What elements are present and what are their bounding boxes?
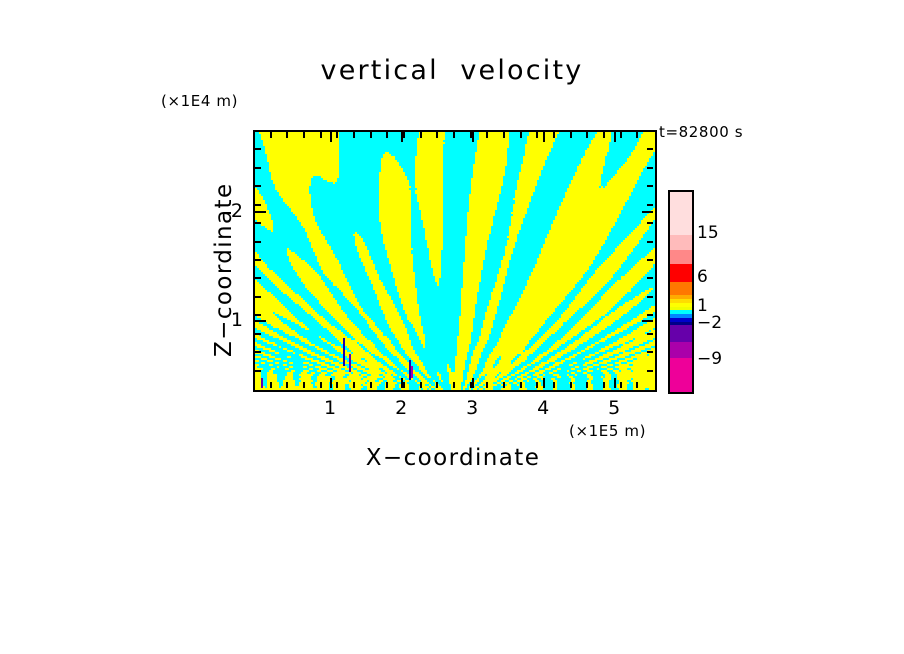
colorbar-band-1 — [670, 235, 692, 250]
y-axis-units-label: (×1E4 m) — [161, 94, 238, 109]
axis-tick-mark — [647, 222, 653, 224]
axis-tick-mark — [620, 382, 622, 388]
axis-tick-mark — [614, 378, 616, 388]
axis-tick-mark — [320, 382, 322, 388]
axis-tick-mark — [420, 382, 422, 388]
axis-tick-mark — [553, 382, 555, 388]
axis-tick-mark — [255, 351, 261, 353]
axis-tick-mark — [303, 132, 305, 138]
colorbar-band-3 — [670, 264, 692, 282]
axis-tick-mark — [570, 132, 572, 138]
axis-tick-mark — [636, 132, 638, 138]
axis-tick-mark — [255, 259, 261, 261]
colorbar-band-2 — [670, 250, 692, 264]
x-tick-label-1: 2 — [381, 397, 421, 419]
axis-tick-mark — [330, 378, 332, 388]
colorbar-band-4 — [670, 282, 692, 295]
axis-tick-mark — [336, 132, 338, 138]
axis-tick-mark — [255, 314, 261, 316]
axis-tick-mark — [647, 351, 653, 353]
axis-tick-mark — [472, 378, 474, 388]
axis-tick-mark — [636, 382, 638, 388]
axis-tick-mark — [401, 132, 403, 142]
axis-tick-mark — [386, 132, 388, 138]
axis-tick-mark — [543, 132, 545, 142]
axis-tick-mark — [620, 132, 622, 138]
x-tick-label-4: 5 — [594, 397, 634, 419]
axis-tick-mark — [255, 241, 261, 243]
plot-area — [253, 130, 657, 392]
colorbar — [668, 190, 694, 394]
y-tick-label-0: 1 — [209, 309, 243, 331]
axis-tick-mark — [255, 211, 266, 213]
axis-tick-mark — [603, 132, 605, 138]
colorbar-band-0 — [670, 192, 692, 235]
axis-tick-mark — [370, 382, 372, 388]
axis-tick-mark — [436, 382, 438, 388]
axis-tick-mark — [255, 222, 261, 224]
axis-tick-mark — [255, 277, 261, 279]
axis-tick-mark — [647, 241, 653, 243]
axis-tick-mark — [543, 378, 545, 388]
axis-tick-mark — [647, 148, 653, 150]
axis-tick-mark — [401, 378, 403, 388]
axis-tick-mark — [647, 259, 653, 261]
page-title: vertical velocity — [0, 57, 904, 84]
axis-tick-mark — [353, 382, 355, 388]
axis-tick-mark — [586, 132, 588, 138]
axis-tick-mark — [330, 132, 332, 142]
axis-tick-mark — [486, 132, 488, 138]
axis-tick-mark — [255, 167, 261, 169]
x-tick-label-2: 3 — [452, 397, 492, 419]
axis-tick-mark — [255, 204, 261, 206]
axis-tick-mark — [453, 382, 455, 388]
axis-tick-mark — [570, 382, 572, 388]
x-tick-label-0: 1 — [310, 397, 350, 419]
axis-tick-mark — [503, 382, 505, 388]
axis-tick-mark — [503, 132, 505, 138]
axis-tick-mark — [586, 382, 588, 388]
x-tick-label-3: 4 — [523, 397, 563, 419]
axis-tick-mark — [255, 296, 261, 298]
axis-tick-mark — [486, 382, 488, 388]
axis-tick-mark — [536, 132, 538, 138]
axis-tick-mark — [642, 211, 653, 213]
axis-tick-mark — [403, 132, 405, 138]
x-axis-units-label: (×1E5 m) — [569, 424, 646, 439]
axis-tick-mark — [553, 132, 555, 138]
colorbar-band-15 — [670, 358, 692, 392]
axis-tick-mark — [270, 382, 272, 388]
axis-tick-mark — [614, 132, 616, 142]
y-tick-label-1: 2 — [209, 200, 243, 222]
time-stamp-label: t=82800 s — [659, 125, 743, 140]
axis-tick-mark — [353, 132, 355, 138]
axis-tick-mark — [647, 185, 653, 187]
colorbar-label-3: −2 — [697, 313, 722, 333]
axis-tick-mark — [536, 382, 538, 388]
axis-tick-mark — [520, 132, 522, 138]
axis-tick-mark — [642, 320, 653, 322]
axis-tick-mark — [386, 382, 388, 388]
colorbar-band-14 — [670, 342, 692, 358]
axis-tick-mark — [647, 167, 653, 169]
axis-tick-mark — [647, 296, 653, 298]
axis-tick-mark — [303, 382, 305, 388]
axis-tick-mark — [255, 320, 266, 322]
axis-tick-mark — [255, 185, 261, 187]
axis-tick-mark — [472, 132, 474, 142]
axis-tick-mark — [647, 314, 653, 316]
colorbar-band-13 — [670, 325, 692, 342]
axis-tick-mark — [436, 132, 438, 138]
axis-tick-mark — [255, 370, 261, 372]
axis-tick-mark — [255, 148, 261, 150]
axis-tick-mark — [370, 132, 372, 138]
figure-canvas: vertical velocity (×1E4 m) t=82800 s Z−c… — [0, 0, 904, 654]
axis-tick-mark — [603, 382, 605, 388]
axis-tick-mark — [320, 132, 322, 138]
axis-tick-mark — [647, 333, 653, 335]
axis-tick-mark — [336, 382, 338, 388]
axis-tick-mark — [420, 132, 422, 138]
colorbar-label-4: −9 — [697, 349, 722, 369]
axis-tick-mark — [255, 333, 261, 335]
vertical-velocity-field — [255, 132, 655, 390]
axis-tick-mark — [520, 382, 522, 388]
axis-tick-mark — [647, 204, 653, 206]
axis-tick-mark — [286, 382, 288, 388]
axis-tick-mark — [453, 132, 455, 138]
axis-tick-mark — [270, 132, 272, 138]
axis-tick-mark — [647, 370, 653, 372]
axis-tick-mark — [403, 382, 405, 388]
axis-tick-mark — [647, 277, 653, 279]
x-axis-title: X−coordinate — [252, 447, 654, 470]
axis-tick-mark — [286, 132, 288, 138]
colorbar-label-1: 6 — [697, 267, 708, 287]
colorbar-label-0: 15 — [697, 223, 719, 243]
